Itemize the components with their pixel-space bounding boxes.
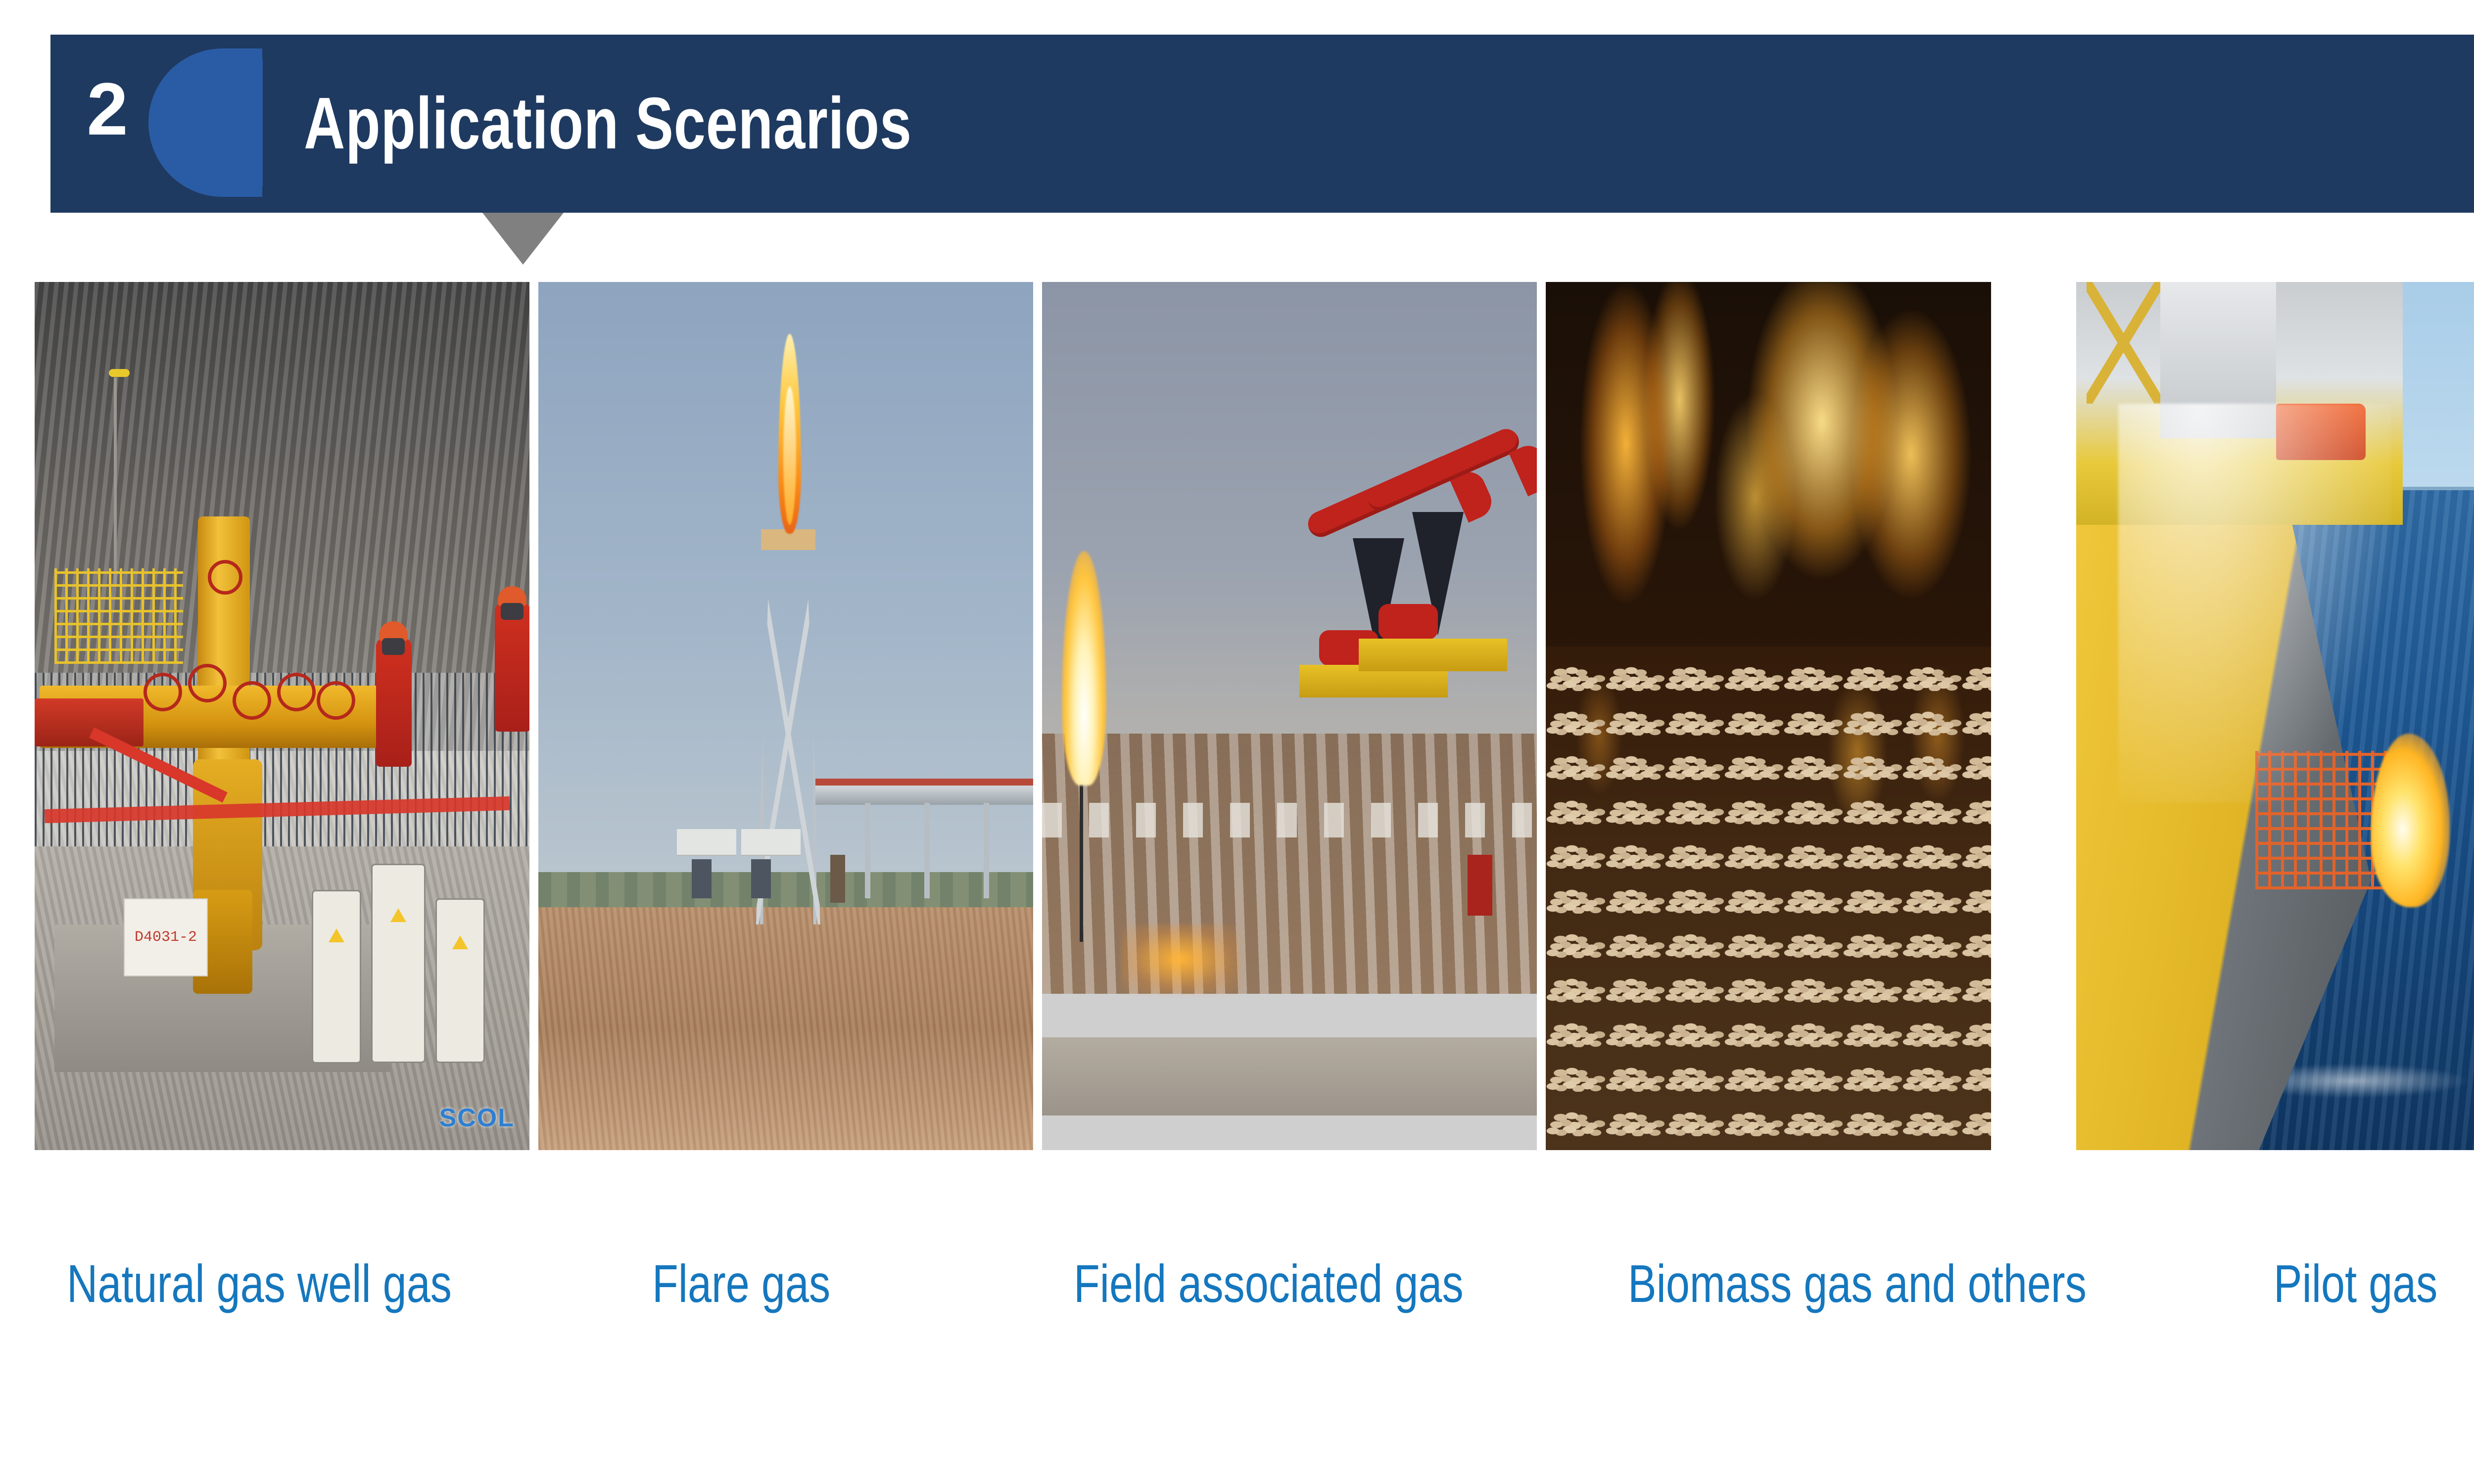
valve-handwheel <box>277 673 316 711</box>
red-flowline <box>35 698 143 746</box>
photo-biomass-pellets <box>1546 282 1991 1150</box>
pipe-rack-support <box>865 803 870 898</box>
snow-patches <box>1042 803 1537 837</box>
deck-derrick <box>2087 282 2160 404</box>
site-equipment <box>692 859 712 898</box>
valve-handwheel <box>233 681 271 720</box>
photo-oilfield-pumpjacks <box>1042 282 1537 1150</box>
lamp-post <box>114 377 117 586</box>
wellhead <box>1468 855 1492 916</box>
pipe-rack-support <box>924 803 930 898</box>
pipe-rack <box>815 786 1033 805</box>
flare-ground-glow <box>1121 925 1240 994</box>
caption-biomass-gas-and-others: Biomass gas and others <box>1628 1252 2087 1316</box>
caption-row: Natural gas well gas Flare gas Field ass… <box>0 1252 2474 1360</box>
warning-sign <box>435 898 485 1063</box>
section-number-label: 2 <box>50 35 164 183</box>
valve-handwheel <box>143 673 182 711</box>
water-spray-curtain <box>2118 404 2392 803</box>
yellow-railing <box>54 568 183 664</box>
warning-sign <box>371 864 426 1064</box>
site-equipment <box>830 855 845 903</box>
valve-handwheel <box>317 681 355 720</box>
banner-pointer-triangle-icon <box>482 213 564 265</box>
valve-handwheel <box>188 664 227 702</box>
photo-flare-stack <box>538 282 1033 1150</box>
photo-watermark: SCOL <box>439 1103 515 1133</box>
equipment-shed <box>741 829 801 855</box>
flare-flame-core <box>783 386 796 525</box>
caption-field-associated-gas: Field associated gas <box>1074 1252 1464 1316</box>
header-banner: 2 Application Scenarios <box>50 35 2474 213</box>
photo-offshore-fpso <box>2076 282 2474 1150</box>
valve-handwheel <box>208 560 242 595</box>
site-equipment <box>751 859 771 898</box>
page-title: Application Scenarios <box>304 35 912 213</box>
worker-figure <box>376 638 412 767</box>
caption-pilot-gas: Pilot gas <box>2274 1252 2437 1316</box>
lamp-head <box>109 369 130 377</box>
caption-natural-gas-well-gas: Natural gas well gas <box>67 1252 452 1316</box>
dirt-ground <box>538 907 1033 1150</box>
access-road <box>1042 1037 1537 1115</box>
pipe-rack-support <box>984 803 989 898</box>
section-number-badge <box>148 48 262 197</box>
caption-flare-gas: Flare gas <box>652 1252 830 1316</box>
worker-figure <box>495 603 529 732</box>
photo-natural-gas-wellhead: D4031-2 SCOL <box>35 282 529 1150</box>
well-id-sign: D4031-2 <box>124 898 208 976</box>
frozen-field <box>1042 734 1537 994</box>
photo-strip: D4031-2 SCOL <box>35 282 2474 1150</box>
ground-flare-stack <box>1080 768 1083 942</box>
equipment-shed <box>677 829 736 855</box>
wood-pellet-bed <box>1546 647 1991 1150</box>
warning-sign <box>312 890 361 1064</box>
